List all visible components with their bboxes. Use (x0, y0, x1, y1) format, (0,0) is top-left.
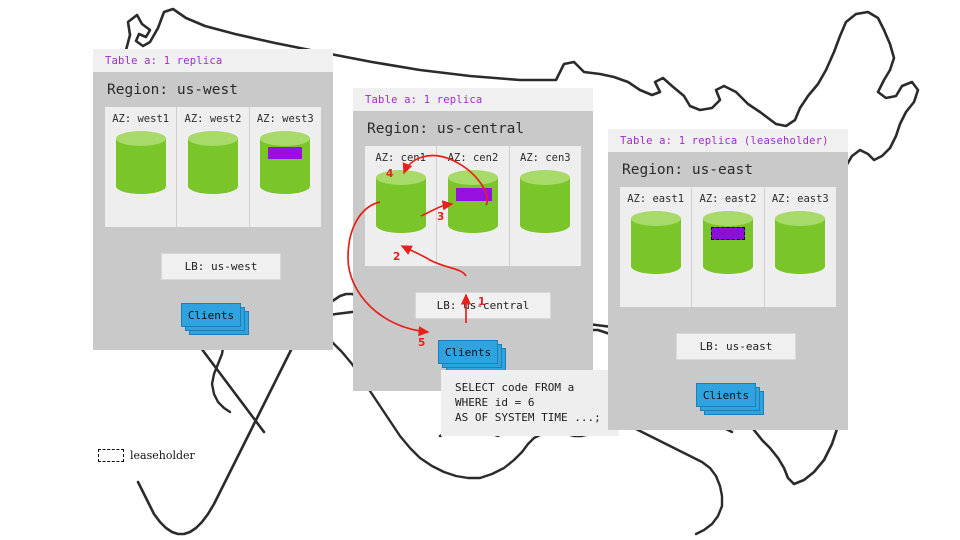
cylinder-top (775, 211, 825, 226)
cylinder-body (448, 177, 498, 233)
az-row-us-central: AZ: cen1 AZ: cen2 AZ: cen3 (365, 146, 581, 266)
clients-stack-us-central[interactable]: Clients (438, 340, 504, 372)
clients-stack-us-east[interactable]: Clients (696, 383, 762, 415)
node-cylinder-cen3[interactable] (520, 170, 570, 240)
az-label-west2: AZ: west2 (185, 113, 242, 125)
cylinder-body (631, 218, 681, 274)
az-cell-west2[interactable]: AZ: west2 (177, 107, 249, 227)
az-cell-east2[interactable]: AZ: east2 (692, 187, 764, 307)
cylinder-top (448, 170, 498, 185)
leaseholder-replica-block-east2 (711, 227, 745, 240)
cylinder-body (116, 138, 166, 194)
region-panel-us-east: Table a: 1 replica (leaseholder) Region:… (608, 129, 848, 430)
legend: leaseholder (98, 449, 195, 462)
clients-label-us-east[interactable]: Clients (696, 383, 756, 407)
node-cylinder-west2[interactable] (188, 131, 238, 201)
diagram-canvas: Table a: 1 replica Region: us-west AZ: w… (0, 0, 960, 540)
az-label-east1: AZ: east1 (627, 193, 684, 205)
node-cylinder-east2[interactable] (703, 211, 753, 281)
cylinder-top (631, 211, 681, 226)
flow-step-label-4: 4 (386, 168, 393, 180)
region-body-us-west: Region: us-west AZ: west1 AZ: west2 (93, 72, 333, 350)
az-label-east3: AZ: east3 (772, 193, 829, 205)
node-cylinder-west1[interactable] (116, 131, 166, 201)
az-cell-cen2[interactable]: AZ: cen2 (437, 146, 509, 266)
flow-step-label-5: 5 (418, 337, 425, 349)
flow-step-label-1: 1 (478, 296, 485, 308)
az-label-west3: AZ: west3 (257, 113, 314, 125)
sql-query-box: SELECT code FROM a WHERE id = 6 AS OF SY… (441, 370, 619, 436)
az-cell-west3[interactable]: AZ: west3 (250, 107, 321, 227)
cylinder-body (376, 177, 426, 233)
az-label-cen1: AZ: cen1 (375, 152, 426, 164)
region-title-us-central: Region: us-central (353, 111, 593, 146)
node-cylinder-east1[interactable] (631, 211, 681, 281)
region-title-us-east: Region: us-east (608, 152, 848, 187)
region-panel-us-west: Table a: 1 replica Region: us-west AZ: w… (93, 49, 333, 350)
az-cell-west1[interactable]: AZ: west1 (105, 107, 177, 227)
load-balancer-us-east[interactable]: LB: us-east (676, 333, 796, 360)
az-label-cen3: AZ: cen3 (520, 152, 571, 164)
region-table-label-us-central: Table a: 1 replica (353, 88, 593, 111)
region-table-label-us-west: Table a: 1 replica (93, 49, 333, 72)
node-cylinder-east3[interactable] (775, 211, 825, 281)
cylinder-top (376, 170, 426, 185)
flow-step-label-2: 2 (393, 251, 400, 263)
az-label-cen2: AZ: cen2 (448, 152, 499, 164)
cylinder-body (520, 177, 570, 233)
region-panel-us-central: Table a: 1 replica Region: us-central AZ… (353, 88, 593, 391)
cylinder-top (703, 211, 753, 226)
cylinder-top (520, 170, 570, 185)
replica-block-cen2 (456, 188, 492, 201)
load-balancer-us-west[interactable]: LB: us-west (161, 253, 281, 280)
node-cylinder-cen1[interactable] (376, 170, 426, 240)
legend-label: leaseholder (130, 449, 195, 462)
az-label-east2: AZ: east2 (700, 193, 757, 205)
az-cell-east3[interactable]: AZ: east3 (765, 187, 836, 307)
flow-step-label-3: 3 (437, 211, 444, 223)
az-label-west1: AZ: west1 (112, 113, 169, 125)
cylinder-top (116, 131, 166, 146)
region-table-label-us-east: Table a: 1 replica (leaseholder) (608, 129, 848, 152)
cylinder-top (188, 131, 238, 146)
cylinder-body (188, 138, 238, 194)
dashed-rect-icon (98, 449, 124, 462)
region-body-us-east: Region: us-east AZ: east1 AZ: east2 (608, 152, 848, 430)
az-cell-cen3[interactable]: AZ: cen3 (510, 146, 581, 266)
replica-block-west3 (268, 147, 302, 159)
clients-stack-us-west[interactable]: Clients (181, 303, 243, 333)
clients-label-us-central[interactable]: Clients (438, 340, 498, 364)
cylinder-top (260, 131, 310, 146)
az-row-us-east: AZ: east1 AZ: east2 AZ: east3 (620, 187, 836, 307)
region-body-us-central: Region: us-central AZ: cen1 AZ: cen2 (353, 111, 593, 391)
node-cylinder-cen2[interactable] (448, 170, 498, 240)
az-cell-cen1[interactable]: AZ: cen1 (365, 146, 437, 266)
cylinder-body (775, 218, 825, 274)
clients-label-us-west[interactable]: Clients (181, 303, 241, 327)
az-cell-east1[interactable]: AZ: east1 (620, 187, 692, 307)
az-row-us-west: AZ: west1 AZ: west2 AZ: west3 (105, 107, 321, 227)
region-title-us-west: Region: us-west (93, 72, 333, 107)
node-cylinder-west3[interactable] (260, 131, 310, 201)
